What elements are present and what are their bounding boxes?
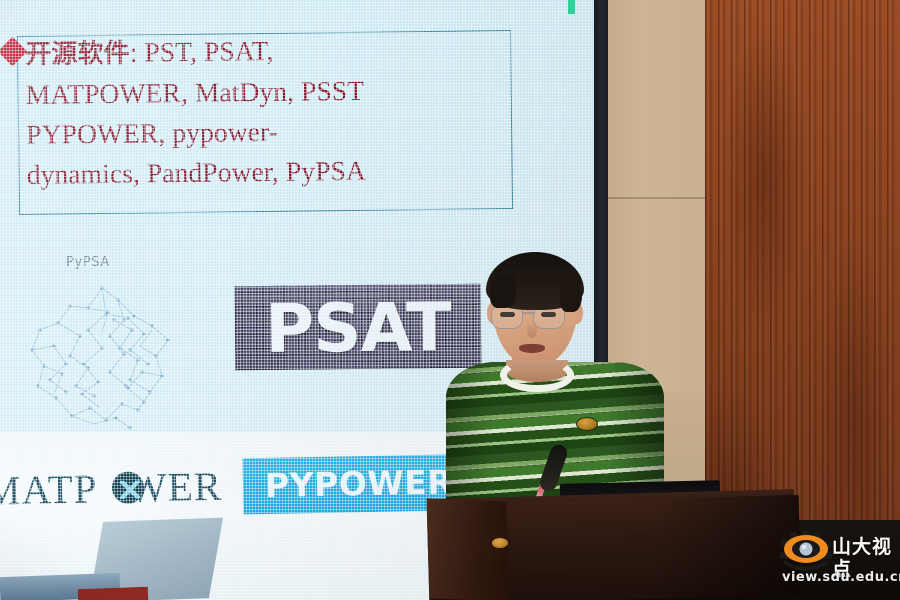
wall-panel-seam: [600, 197, 710, 199]
matpower-text-before: MATP: [0, 465, 98, 513]
screen-green-edge-mark: [568, 0, 575, 14]
eyeglasses-bridge: [523, 312, 535, 314]
pypsa-network-graph-icon: [10, 268, 195, 448]
foreground-red-strip: [78, 587, 148, 600]
slide-heading-cn: 开源软件: [25, 39, 130, 70]
podium-shading: [427, 495, 802, 600]
speaker-nose: [527, 320, 537, 338]
matpower-logo: MATPOWER: [0, 461, 244, 514]
eye-in-gear-logo-icon: [778, 530, 834, 574]
slide-body-text: 开源软件: PST, PSAT, MATPOWER, MatDyn, PSST …: [25, 28, 497, 195]
presentation-photo-scene: 开源软件: PST, PSAT, MATPOWER, MatDyn, PSST …: [0, 0, 900, 600]
speaker-mouth: [519, 344, 545, 353]
watermark: 山大视点 view.sdu.edu.cn: [778, 530, 896, 592]
speaker-hair-side: [560, 272, 582, 312]
slide-line-1-tail: : PST, PSAT,: [129, 35, 273, 68]
slide-line-3: PYPOWER, pypower-: [26, 109, 496, 155]
slide-line-4: dynamics, PandPower, PyPSA: [27, 149, 497, 195]
watermark-url: view.sdu.edu.cn: [782, 570, 900, 586]
slide-line-2: MATPOWER, MatDyn, PSST: [26, 69, 496, 115]
